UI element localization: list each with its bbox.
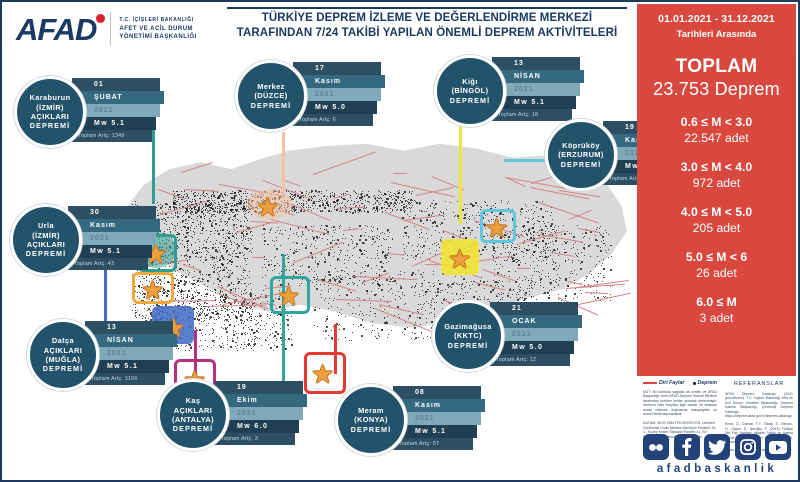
event-day: 01 — [72, 78, 160, 91]
event-name-line-4: DEPREMİ — [43, 364, 83, 373]
magnitude-band-0: 0.6 ≤ M < 3.0 22.547 adet — [637, 115, 796, 145]
event-name-line-2: (İZMİR) — [32, 231, 60, 240]
statistics-panel: 01.01.2021 - 31.12.2021 Tarihleri Arasın… — [637, 4, 796, 376]
event-card-karaburun-izmir[interactable]: Karaburun (İZMİR) AÇIKLARI DEPREMİ 01 ŞU… — [14, 74, 166, 148]
event-aftershocks: Toplam Artç: 43 — [68, 258, 148, 270]
event-day: 13 — [85, 321, 173, 334]
references-heading: REFERANSLAR — [725, 381, 793, 387]
earthquake-dot-icon — [693, 382, 696, 385]
afad-logo-dot-icon — [96, 14, 105, 23]
event-day: 17 — [293, 62, 381, 75]
event-aftershocks: Toplam Artç: 57 — [393, 438, 473, 450]
event-name-line-4: DEPREMİ — [561, 160, 601, 169]
event-bubble: Merkez (DÜZCE) DEPREMİ — [235, 60, 307, 132]
event-name-line-1: Köprüköy — [562, 141, 600, 150]
afad-logo-text: AFAD — [16, 12, 96, 47]
event-bubble: Gazimağusa (KKTC) DEPREMİ — [432, 300, 504, 372]
event-day: 21 — [490, 302, 578, 315]
event-name-line-3: (MUĞLA) — [46, 355, 81, 364]
event-name-line-4: DEPREMİ — [173, 424, 213, 433]
event-name-line-3: AÇIKLARI — [27, 240, 66, 249]
event-aftershocks: Toplam Artç: 6 — [293, 114, 373, 126]
magnitude-band-3: 5.0 ≤ M < 6 26 adet — [637, 250, 796, 280]
stats-total-value: 23.753 Deprem — [637, 79, 796, 100]
event-bubble: Kiğı (BİNGÖL) DEPREMİ — [434, 55, 506, 127]
afad-logo-block: AFAD T.C. İÇİŞLERİ BAKANLIĞI AFET VE ACİ… — [16, 8, 246, 50]
stats-total-label: TOPLAM — [637, 56, 796, 78]
flickr-icon[interactable] — [643, 434, 669, 460]
event-ribbons: 30 Kasım 2021 Mw 5.1 Toplam Artç: 43 — [68, 206, 162, 276]
event-name-line-2: (BİNGÖL) — [452, 86, 489, 95]
event-card-kigi-bingol[interactable]: Kiğı (BİNGÖL) DEPREMİ 13 NİSAN 2021 Mw 5… — [434, 53, 586, 127]
ministry-line-3: YÖNETİMİ BAŞKANLIĞI — [119, 33, 197, 41]
event-name-line-2: (DÜZCE) — [254, 91, 287, 100]
event-card-kas-antalya[interactable]: Kaş AÇIKLARI (ANTALYA) DEPREMİ 19 Ekim 2… — [157, 377, 309, 451]
event-month: Kasım — [293, 75, 385, 88]
band-count: 22.547 adet — [637, 131, 796, 145]
event-name-line-1: Datça — [52, 336, 74, 345]
event-card-meram-konya[interactable]: Meram (KONYA) DEPREMİ 08 Kasım 2021 Mw 5… — [335, 382, 487, 456]
event-bubble: Köprüköy (ERZURUM) DEPREMİ — [545, 119, 617, 191]
social-media-bar — [643, 434, 791, 460]
event-aftershocks: Toplam Artç: 1349 — [72, 130, 152, 142]
magnitude-band-2: 4.0 ≤ M < 5.0 205 adet — [637, 205, 796, 235]
band-count: 972 adet — [637, 176, 796, 190]
event-name-line-4: DEPREMİ — [251, 101, 291, 110]
event-month: Kasım — [393, 399, 485, 412]
ministry-text: T.C. İÇİŞLERİ BAKANLIĞI AFET VE ACİL DUR… — [119, 16, 197, 41]
magnitude-band-4: 6.0 ≤ M 3 adet — [637, 295, 796, 325]
event-card-gazimagusa-kktc[interactable]: Gazimağusa (KKTC) DEPREMİ 21 OCAK 2021 M… — [432, 298, 584, 372]
event-name-line-1: Merkez — [257, 82, 284, 91]
band-count: 205 adet — [637, 221, 796, 235]
event-name-line-2: (KKTC) — [454, 331, 482, 340]
event-card-urla-izmir[interactable]: Urla (İZMİR) AÇIKLARI DEPREMİ 30 Kasım 2… — [10, 202, 162, 276]
references-footer: Diri Faylar Deprem REFERANSLAR NOT: Bu h… — [637, 376, 796, 480]
handle-separator — [645, 460, 789, 461]
event-ribbons: 08 Kasım 2021 Mw 5.1 Toplam Artç: 57 — [393, 386, 487, 456]
event-bubble: Meram (KONYA) DEPREMİ — [335, 384, 407, 456]
band-range: 4.0 ≤ M < 5.0 — [637, 205, 796, 219]
magnitude-band-1: 3.0 ≤ M < 4.0 972 adet — [637, 160, 796, 190]
event-bubble: Datça AÇIKLARI (MUĞLA) DEPREMİ — [27, 319, 99, 391]
event-name-line-1: Kiğı — [462, 77, 478, 86]
facebook-icon[interactable] — [674, 434, 700, 460]
event-month: OCAK — [490, 315, 582, 328]
event-name-line-4: DEPREMİ — [450, 96, 490, 105]
band-range: 3.0 ≤ M < 4.0 — [637, 160, 796, 174]
event-name-line-2: (İZMİR) — [36, 103, 64, 112]
infographic-poster: AFAD T.C. İÇİŞLERİ BAKANLIĞI AFET VE ACİ… — [0, 0, 800, 482]
event-month: NİSAN — [85, 334, 177, 347]
title-rule — [227, 7, 627, 9]
event-month: Kasım — [68, 219, 160, 232]
legend-fault: Diri Faylar — [643, 380, 684, 386]
stats-date-subtitle: Tarihleri Arasında — [637, 29, 796, 40]
map-legend: Diri Faylar Deprem — [643, 380, 717, 386]
connector-kigi — [459, 124, 462, 224]
logo-divider — [110, 12, 111, 46]
event-name-line-4: DEPREMİ — [448, 341, 488, 350]
title-line-2: TARAFINDAN 7/24 TAKİBİ YAPILAN ÖNEMLİ DE… — [227, 26, 627, 41]
title-line-1: TÜRKİYE DEPREM İZLEME VE DEĞERLENDİRME M… — [227, 11, 627, 26]
event-day: 08 — [393, 386, 481, 399]
connector-koprukoy — [504, 159, 546, 162]
event-name-line-3: (ANTALYA) — [172, 415, 214, 424]
event-name-line-4: DEPREMİ — [351, 425, 391, 434]
youtube-icon[interactable] — [765, 434, 791, 460]
band-count: 3 adet — [637, 311, 796, 325]
event-name-line-2: AÇIKLARI — [174, 406, 213, 415]
stats-date-range: 01.01.2021 - 31.12.2021 — [637, 13, 796, 25]
legend-fault-label: Diri Faylar — [659, 380, 684, 386]
event-name-line-2: (ERZURUM) — [558, 150, 603, 159]
event-month: ŞUBAT — [72, 91, 164, 104]
event-name-line-1: Kaş — [186, 396, 201, 405]
event-ribbons: 17 Kasım 2021 Mw 5.0 Toplam Artç: 6 — [293, 62, 387, 132]
event-name-line-1: Gazimağusa — [444, 322, 492, 331]
event-name-line-1: Karaburun — [30, 93, 71, 102]
event-bubble: Urla (İZMİR) AÇIKLARI DEPREMİ — [10, 204, 82, 276]
event-name-line-1: Meram — [358, 406, 384, 415]
event-bubble: Kaş AÇIKLARI (ANTALYA) DEPREMİ — [157, 379, 229, 451]
event-name-line-2: AÇIKLARI — [44, 346, 83, 355]
twitter-icon[interactable] — [704, 434, 730, 460]
page-title: TÜRKİYE DEPREM İZLEME VE DEĞERLENDİRME M… — [227, 11, 627, 41]
band-range: 6.0 ≤ M — [637, 295, 796, 309]
event-card-merkez-duzce[interactable]: Merkez (DÜZCE) DEPREMİ 17 Kasım 2021 Mw … — [235, 58, 387, 132]
social-handle: afadbaskanlik — [643, 463, 791, 475]
instagram-icon[interactable] — [735, 434, 761, 460]
ministry-line-2: AFET VE ACİL DURUM — [119, 25, 197, 33]
band-range: 0.6 ≤ M < 3.0 — [637, 115, 796, 129]
event-name-line-4: DEPREMİ — [26, 249, 66, 258]
band-range: 5.0 ≤ M < 6 — [637, 250, 796, 264]
event-ribbons: 21 OCAK 2021 Mw 5.0 Toplam Artç: 12 — [490, 302, 584, 372]
event-month: Ekim — [215, 394, 307, 407]
event-aftershocks: Toplam Artç: 3166 — [85, 373, 165, 385]
event-name-line-2: (KONYA) — [354, 415, 388, 424]
event-day: 19 — [215, 381, 303, 394]
event-name-line-4: DEPREMİ — [30, 121, 70, 130]
band-count: 26 adet — [637, 266, 796, 280]
ministry-line-1: T.C. İÇİŞLERİ BAKANLIĞI — [119, 16, 197, 24]
fault-line-icon — [643, 382, 657, 384]
event-bubble: Karaburun (İZMİR) AÇIKLARI DEPREMİ — [14, 76, 86, 148]
event-name-line-3: AÇIKLARI — [31, 112, 70, 121]
legend-earthquake: Deprem — [693, 380, 717, 386]
event-aftershocks: Toplam Artç: 12 — [490, 354, 570, 366]
connector-merkez-duzce — [282, 132, 285, 192]
map-note-text: NOT: Bu haritada sağdaki alt verilen ve … — [643, 390, 717, 416]
event-name-line-1: Urla — [38, 221, 54, 230]
event-day: 13 — [492, 57, 580, 70]
reference-entry-1: AFAD Deprem Katalogu (2021 güncelleme), … — [725, 392, 793, 418]
legend-eq-label: Deprem — [698, 380, 717, 386]
event-aftershocks: Toplam Artç: 3 — [215, 433, 295, 445]
event-day: 30 — [68, 206, 156, 219]
event-ribbons: 19 Ekim 2021 Mw 6.0 Toplam Artç: 3 — [215, 381, 309, 451]
event-ribbons: 01 ŞUBAT 2021 Mw 5.1 Toplam Artç: 1349 — [72, 78, 166, 148]
event-month: NİSAN — [492, 70, 584, 83]
afad-wordmark: AFAD — [16, 14, 96, 45]
